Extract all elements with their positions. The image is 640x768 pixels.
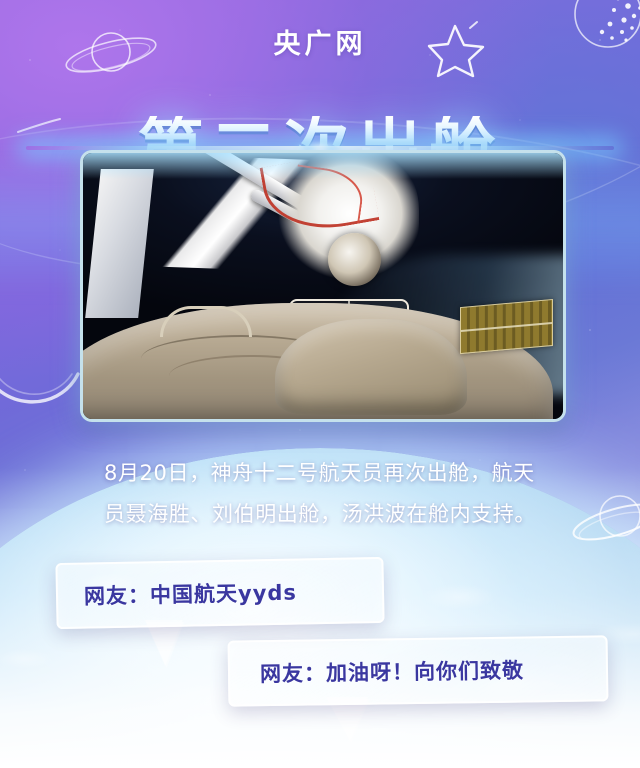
- eva-photo: [83, 153, 563, 419]
- comment-bubble-1[interactable]: 网友：中国航天yyds: [55, 557, 384, 629]
- photo-top-shine: [83, 153, 563, 179]
- photo-handrail: [160, 306, 252, 337]
- photo-solar-array: [460, 299, 553, 354]
- site-logo: 央广网: [0, 22, 640, 61]
- comment-bubble-2[interactable]: 网友：加油呀！向你们致敬: [228, 635, 609, 706]
- photo-astronaut-helmet: [328, 233, 381, 286]
- eva-photo-frame: [80, 150, 566, 422]
- comment-bubble-2-text: 网友：加油呀！向你们致敬: [260, 655, 524, 689]
- photo-equipment-bag: [275, 319, 467, 415]
- comment-bubble-1-text: 网友：中国航天yyds: [84, 577, 297, 611]
- poster-canvas: 央广网 第二次出舱 8月20日，神舟十二号航天员再次出舱，航天员聂海胜、刘伯明出: [0, 0, 640, 768]
- crescent-arc-icon: [0, 352, 84, 422]
- article-body-text: 8月20日，神舟十二号航天员再次出舱，航天员聂海胜、刘伯明出舱，汤洪波在舱内支持…: [104, 453, 556, 535]
